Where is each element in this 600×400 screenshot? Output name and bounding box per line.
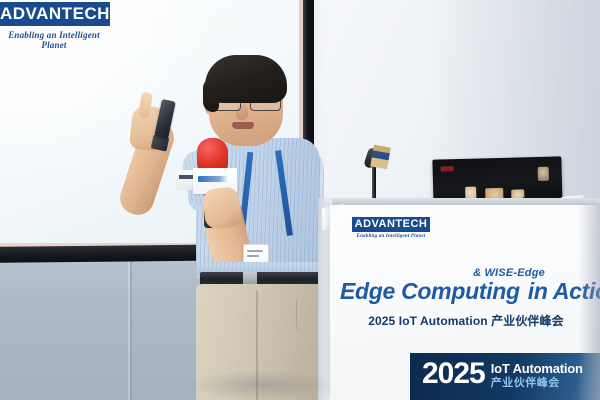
event-logo-band-content: 2025 IoT Automation 产业伙伴峰会 <box>422 359 583 390</box>
event-logo-text-group: IoT Automation 产业伙伴峰会 <box>491 359 583 390</box>
event-logo-english: IoT Automation <box>491 362 583 376</box>
advantech-wordmark: ADVANTECH <box>352 217 430 232</box>
podium-right-shadow <box>578 205 600 400</box>
event-title-part1: Edge Computing <box>340 278 520 304</box>
badge-text-line <box>247 255 259 257</box>
hair <box>205 55 287 103</box>
event-title: Edge Computingin Action <box>340 278 592 305</box>
podium-headline-block: & WISE-Edge Edge Computingin Action 2025… <box>340 267 592 329</box>
event-logo-band: 2025 IoT Automation 产业伙伴峰会 <box>410 353 600 400</box>
event-logo-chinese: 产业伙伴峰会 <box>491 377 583 390</box>
microphone-windscreen <box>197 138 228 172</box>
event-photo-scene: ADVANTECH Enabling an Intelligent Planet <box>0 0 600 400</box>
podium-front-panel: ADVANTECH Enabling an Intelligent Planet… <box>330 205 600 400</box>
hand-holding-microphone <box>202 186 242 230</box>
event-year: 2025 <box>422 359 485 389</box>
trouser-pocket <box>296 300 319 334</box>
microphone-flag-logo <box>198 176 228 182</box>
podium-advantech-logo: ADVANTECH Enabling an Intelligent Planet <box>352 217 430 239</box>
event-subtitle: 2025 IoT Automation 产业伙伴峰会 <box>340 312 592 329</box>
advantech-tagline: Enabling an Intelligent Planet <box>352 234 430 239</box>
mouth <box>232 122 254 129</box>
floor-shadow <box>186 370 336 400</box>
badge-text-line <box>247 250 263 252</box>
microphone-flag-logo <box>179 175 194 179</box>
